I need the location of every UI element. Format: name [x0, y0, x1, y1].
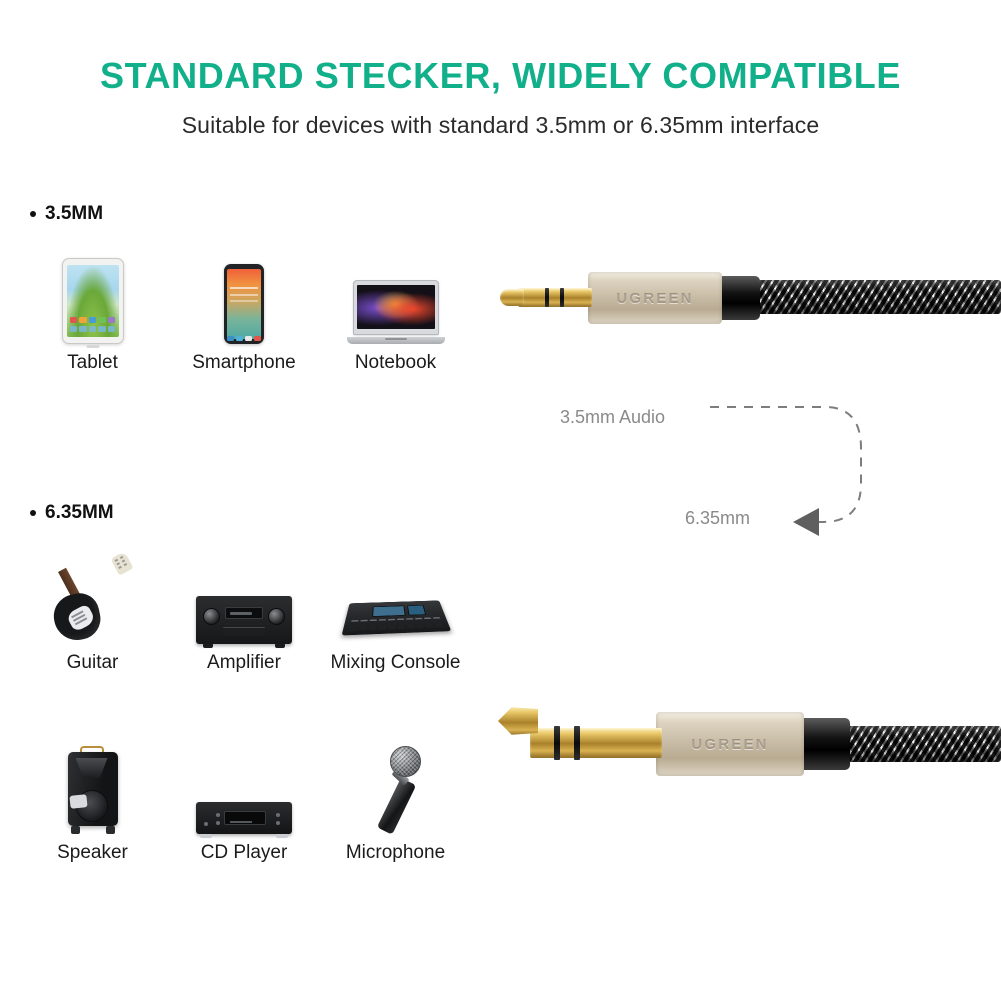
amplifier-icon: [196, 552, 292, 644]
device-row-35mm: Tablet Smartphone Notebook: [20, 252, 468, 374]
plug-tip: [498, 706, 538, 736]
device-item-tablet: Tablet: [20, 252, 165, 374]
insulation-ring: [554, 726, 560, 760]
device-item-notebook: Notebook: [323, 252, 468, 374]
infographic-page: STANDARD STECKER, WIDELY COMPATIBLE Suit…: [0, 0, 1001, 1001]
section-label-text: 3.5MM: [45, 203, 103, 225]
mixing-console-icon: [346, 552, 446, 644]
smartphone-icon: [224, 252, 264, 344]
tablet-icon: [62, 252, 124, 344]
connector-6-35mm: UGREEN: [498, 700, 1001, 792]
page-title: STANDARD STECKER, WIDELY COMPATIBLE: [0, 55, 1001, 97]
cd-player-icon: [196, 742, 292, 834]
device-item-speaker: Speaker: [20, 742, 165, 864]
device-item-guitar: Guitar: [20, 552, 165, 674]
device-item-cd-player: CD Player: [165, 742, 323, 864]
speaker-icon: [65, 742, 121, 834]
strain-relief-collar: [716, 276, 760, 320]
microphone-icon: [367, 742, 425, 834]
insulation-ring: [545, 288, 549, 307]
connector-barrel: UGREEN: [588, 272, 722, 324]
device-item-mixing-console: Mixing Console: [323, 552, 468, 674]
device-label: Microphone: [346, 842, 445, 864]
page-subtitle: Suitable for devices with standard 3.5mm…: [0, 112, 1001, 139]
plug-shaft: [530, 728, 662, 758]
device-label: Guitar: [67, 652, 119, 674]
annotation-label-from: 3.5mm Audio: [560, 407, 665, 428]
ugreen-logo: UGREEN: [691, 736, 768, 753]
strain-relief-collar: [798, 718, 850, 770]
insulation-ring: [560, 288, 564, 307]
device-label: CD Player: [201, 842, 288, 864]
device-label: Speaker: [57, 842, 128, 864]
guitar-icon: [50, 552, 136, 644]
connector-barrel: UGREEN: [656, 712, 804, 776]
device-label: Notebook: [355, 352, 436, 374]
section-label-635mm: 6.35MM: [30, 502, 114, 524]
ugreen-logo: UGREEN: [616, 290, 693, 307]
section-label-35mm: 3.5MM: [30, 203, 103, 225]
device-item-microphone: Microphone: [323, 742, 468, 864]
device-row-635mm-a: Guitar Amplifier Mixing Console: [20, 552, 468, 674]
cable-direction-annotation: 3.5mm Audio 6.35mm: [545, 380, 885, 550]
notebook-icon: [347, 252, 445, 344]
device-item-smartphone: Smartphone: [165, 252, 323, 374]
device-item-amplifier: Amplifier: [165, 552, 323, 674]
device-label: Smartphone: [192, 352, 296, 374]
connector-3-5mm: UGREEN: [498, 258, 1001, 342]
plug-shaft: [518, 288, 592, 307]
device-label: Tablet: [67, 352, 118, 374]
insulation-ring: [574, 726, 580, 760]
bullet-icon: [30, 211, 36, 217]
bullet-icon: [30, 510, 36, 516]
device-label: Amplifier: [207, 652, 281, 674]
braided-cable: [731, 280, 1001, 314]
device-row-635mm-b: Speaker CD Player Microphon: [20, 742, 468, 864]
device-label: Mixing Console: [331, 652, 461, 674]
plug-tip: [500, 289, 524, 306]
annotation-label-to: 6.35mm: [685, 508, 750, 529]
section-label-text: 6.35MM: [45, 502, 114, 524]
